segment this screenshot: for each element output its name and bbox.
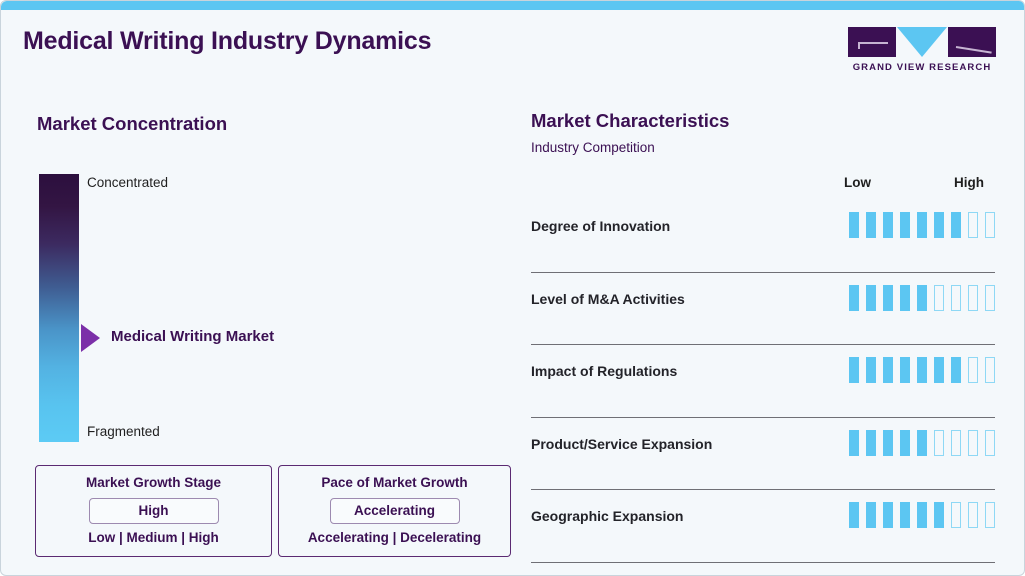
rating-segment-filled [934,357,944,383]
rating-segment-filled [951,357,961,383]
rating-segment-filled [866,430,876,456]
growth-pace-scale: Accelerating | Decelerating [289,530,500,545]
market-concentration-panel: Market Concentration Concentrated Fragme… [1,96,513,576]
characteristic-label: Geographic Expansion [531,508,683,524]
rating-segment-filled [883,502,893,528]
rating-segment-filled [866,502,876,528]
rating-segment-empty [934,285,944,311]
market-position-pointer-icon [81,324,100,352]
logo-text: GRAND VIEW RESEARCH [848,62,996,73]
characteristic-rating-bars [849,285,995,311]
characteristic-row: Impact of Regulations [531,345,995,418]
rating-segment-empty [985,357,995,383]
rating-segment-empty [985,212,995,238]
characteristic-row: Level of M&A Activities [531,273,995,346]
rating-segment-filled [866,212,876,238]
top-accent-bar [1,1,1025,10]
rating-segment-empty [968,212,978,238]
growth-pace-value[interactable]: Accelerating [330,498,460,524]
rating-segment-filled [883,285,893,311]
scale-high-label: High [954,175,984,190]
rating-segment-filled [883,212,893,238]
concentration-top-label: Concentrated [87,175,168,190]
characteristic-rating-bars [849,212,995,238]
rating-segment-filled [900,357,910,383]
market-growth-pace-card: Pace of Market Growth Accelerating Accel… [278,465,511,557]
rating-segment-filled [849,285,859,311]
logo-left-rectangle-icon [848,27,896,57]
logo-triangle-icon [897,27,947,57]
rating-segment-filled [900,430,910,456]
rating-segment-filled [917,357,927,383]
rating-segment-filled [866,357,876,383]
rating-segment-empty [968,430,978,456]
brand-logo: GRAND VIEW RESEARCH [848,27,996,73]
market-position-label: Medical Writing Market [111,328,274,345]
characteristic-rating-bars [849,430,995,456]
characteristic-row: Degree of Innovation [531,200,995,273]
rating-segment-empty [951,430,961,456]
concentration-gradient-bar [39,174,79,442]
rating-segment-filled [917,212,927,238]
rating-segment-filled [900,502,910,528]
market-growth-stage-card: Market Growth Stage High Low | Medium | … [35,465,272,557]
characteristic-rating-bars [849,502,995,528]
rating-segment-filled [917,430,927,456]
rating-segment-filled [917,502,927,528]
characteristic-row: Geographic Expansion [531,490,995,563]
rating-segment-filled [849,357,859,383]
rating-segment-empty [951,502,961,528]
rating-segment-empty [934,430,944,456]
rating-segment-filled [866,285,876,311]
characteristics-rows: Degree of InnovationLevel of M&A Activit… [531,200,995,563]
rating-segment-filled [849,212,859,238]
rating-segment-empty [968,357,978,383]
rating-segment-empty [968,285,978,311]
characteristic-label: Impact of Regulations [531,363,677,379]
growth-pace-title: Pace of Market Growth [289,474,500,492]
logo-marks [848,27,996,57]
market-characteristics-heading: Market Characteristics [531,110,729,132]
rating-segment-empty [985,502,995,528]
characteristic-rating-bars [849,357,995,383]
rating-segment-filled [934,212,944,238]
rating-segment-filled [900,212,910,238]
rating-segment-filled [849,502,859,528]
market-characteristics-subheading: Industry Competition [531,140,655,155]
rating-segment-filled [917,285,927,311]
page-title: Medical Writing Industry Dynamics [23,27,431,56]
characteristic-label: Degree of Innovation [531,218,670,234]
rating-segment-filled [883,357,893,383]
scale-low-label: Low [844,175,871,190]
growth-stage-title: Market Growth Stage [46,474,261,492]
rating-segment-empty [985,285,995,311]
rating-segment-empty [985,430,995,456]
characteristic-label: Product/Service Expansion [531,436,712,452]
rating-segment-filled [849,430,859,456]
rating-segment-filled [951,212,961,238]
growth-stage-scale: Low | Medium | High [46,530,261,545]
market-concentration-heading: Market Concentration [37,113,227,135]
rating-segment-empty [968,502,978,528]
rating-segment-filled [900,285,910,311]
characteristic-label: Level of M&A Activities [531,291,685,307]
rating-segment-filled [883,430,893,456]
characteristic-row: Product/Service Expansion [531,418,995,491]
rating-segment-empty [951,285,961,311]
rating-segment-filled [934,502,944,528]
logo-right-rectangle-icon [948,27,996,57]
infographic-page: Medical Writing Industry Dynamics GRAND … [0,0,1025,576]
concentration-bottom-label: Fragmented [87,424,160,439]
growth-stage-value[interactable]: High [89,498,219,524]
market-characteristics-panel: Market Characteristics Industry Competit… [513,96,1025,576]
